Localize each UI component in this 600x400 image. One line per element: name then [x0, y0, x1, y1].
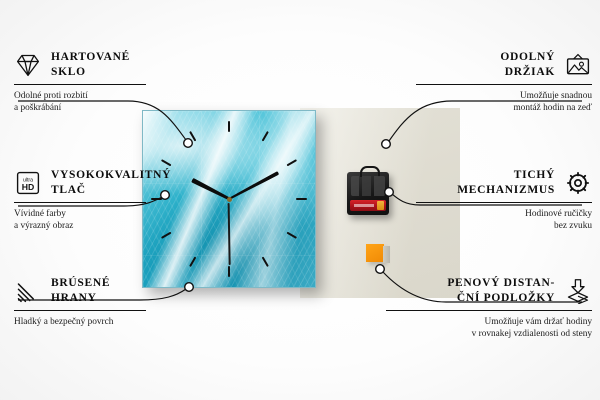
desc-line2: montáž hodin na zeď: [513, 103, 592, 113]
divider: [416, 84, 592, 85]
desc-line2: a poškrábání: [14, 103, 61, 113]
battery: [350, 200, 386, 211]
foam-distance-pad: [366, 244, 384, 262]
feature-title: TICHÝ MECHANIZMUS: [457, 168, 555, 198]
feature-beveled-edges: BRÚSENÉ HRANY Hladký a bezpečný povrch: [14, 276, 214, 328]
feature-title-line1: PENOVÝ DISTAN-: [447, 277, 555, 289]
feature-title: PENOVÝ DISTAN- ČNÍ PODLOŽKY: [447, 276, 555, 306]
gear-icon: [564, 170, 592, 196]
feature-header: TICHÝ MECHANIZMUS: [392, 168, 592, 198]
feature-title-line1: TICHÝ: [514, 169, 555, 181]
desc-line1: Umožňuje snadnou: [520, 91, 592, 101]
feature-title-line2: MECHANIZMUS: [457, 184, 555, 196]
feature-tempered-glass: HARTOVANÉ SKLO Odolné proti rozbití a po…: [14, 50, 214, 114]
feature-title-line1: VYSOKOKVALITNÝ: [51, 169, 171, 181]
feature-header: HARTOVANÉ SKLO: [14, 50, 214, 80]
feature-header: BRÚSENÉ HRANY: [14, 276, 214, 306]
feature-title-line1: BRÚSENÉ: [51, 277, 110, 289]
picture-hanger-icon: [564, 52, 592, 78]
feature-title: ODOLNÝ DRŽIAK: [500, 50, 555, 80]
mechanism-face-detail: [351, 176, 385, 196]
diamond-icon: [14, 52, 42, 78]
feature-description: Hladký a bezpečný povrch: [14, 316, 214, 328]
feature-description: Vívidné farby a výrazný obraz: [14, 208, 214, 232]
feature-title: HARTOVANÉ SKLO: [51, 50, 130, 80]
feature-header: ultra HD VYSOKOKVALITNÝ TLAČ: [14, 168, 214, 198]
desc-line1: Hladký a bezpečný povrch: [14, 317, 113, 327]
beveled-edges-icon: [14, 278, 42, 304]
divider: [14, 84, 146, 85]
feature-title-line2: SKLO: [51, 66, 86, 78]
divider: [14, 202, 146, 203]
feature-hd-print: ultra HD VYSOKOKVALITNÝ TLAČ Vívidné far…: [14, 168, 214, 232]
desc-line1: Odolné proti rozbití: [14, 91, 88, 101]
feature-description: Umožňuje snadnou montáž hodin na zeď: [392, 90, 592, 114]
hand-cap: [227, 197, 232, 202]
feature-title-line2: TLAČ: [51, 184, 86, 196]
desc-line2: bez zvuku: [554, 221, 592, 231]
feature-durable-hanger: ODOLNÝ DRŽIAK Umožňuje snadnou montáž ho…: [392, 50, 592, 114]
divider: [14, 310, 146, 311]
feature-description: Hodinové ručičky bez zvuku: [392, 208, 592, 232]
feature-title-line1: ODOLNÝ: [500, 51, 555, 63]
feature-title-line2: ČNÍ PODLOŽKY: [457, 292, 555, 304]
divider: [416, 202, 592, 203]
feature-silent-mechanism: TICHÝ MECHANIZMUS Hodinové ručičky: [392, 168, 592, 232]
feature-title-line2: DRŽIAK: [505, 66, 555, 78]
divider: [386, 310, 592, 311]
feature-description: Umožňuje vám držať hodiny v rovnakej vzd…: [362, 316, 592, 340]
desc-line1: Vívidné farby: [14, 209, 66, 219]
feature-title-line2: HRANY: [51, 292, 97, 304]
svg-text:HD: HD: [22, 182, 35, 192]
desc-line2: v rovnakej vzdialenosti od steny: [472, 329, 592, 339]
desc-line1: Umožňuje vám držať hodiny: [485, 317, 593, 327]
feature-title: BRÚSENÉ HRANY: [51, 276, 110, 306]
feature-title: VYSOKOKVALITNÝ TLAČ: [51, 168, 171, 198]
clock-mechanism: [347, 172, 389, 215]
foam-pad-arrow-icon: [564, 278, 592, 304]
feature-header: PENOVÝ DISTAN- ČNÍ PODLOŽKY: [362, 276, 592, 306]
feature-title-line1: HARTOVANÉ: [51, 51, 130, 63]
desc-line2: a výrazný obraz: [14, 221, 73, 231]
feature-description: Odolné proti rozbití a poškrábání: [14, 90, 214, 114]
desc-line1: Hodinové ručičky: [525, 209, 592, 219]
ultra-hd-badge-icon: ultra HD: [14, 170, 42, 196]
infographic-canvas: HARTOVANÉ SKLO Odolné proti rozbití a po…: [0, 0, 600, 400]
feature-header: ODOLNÝ DRŽIAK: [392, 50, 592, 80]
feature-foam-pads: PENOVÝ DISTAN- ČNÍ PODLOŽKY Umožňuje vám…: [362, 276, 592, 340]
